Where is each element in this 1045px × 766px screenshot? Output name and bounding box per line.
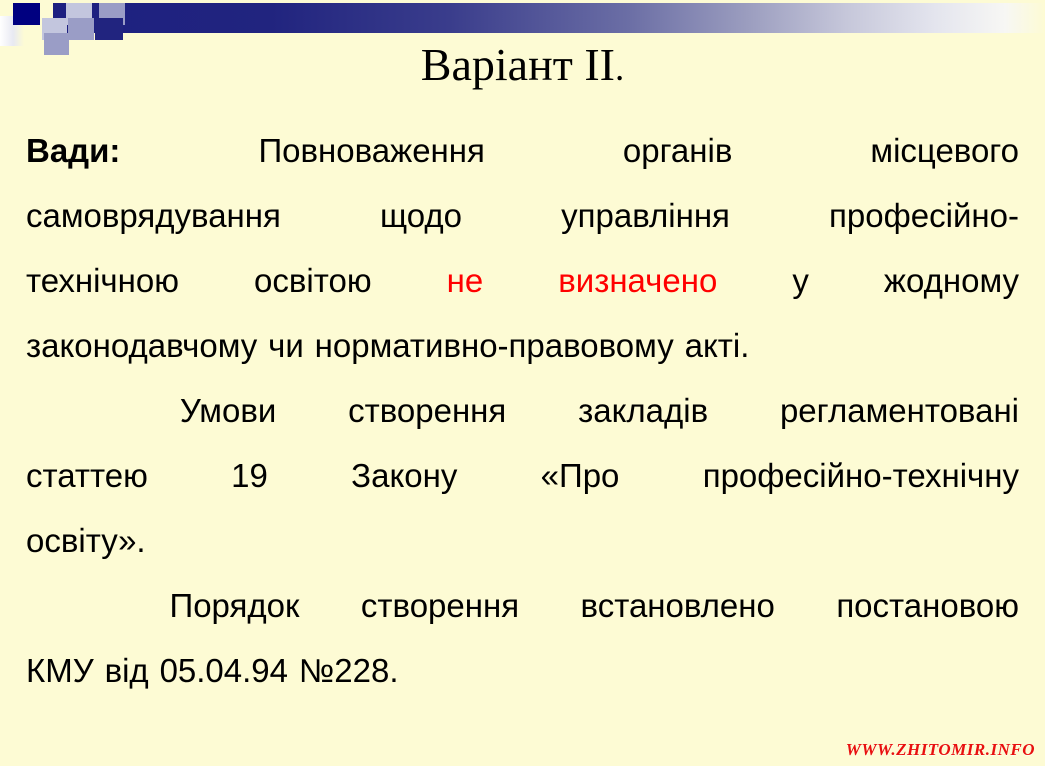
- word: у: [792, 248, 809, 313]
- word: жодному: [884, 248, 1019, 313]
- word: КМУ: [26, 638, 94, 703]
- text-line: Порядокствореннявстановленопостановою: [26, 573, 1019, 638]
- word: Вади:: [26, 118, 120, 183]
- word: законодавчому: [26, 313, 257, 378]
- word: створення: [348, 378, 506, 443]
- word: Повноваження: [258, 118, 484, 183]
- square-dark-navy: [13, 3, 40, 25]
- word: не: [447, 248, 484, 313]
- slide-title: Варіант II.: [0, 37, 1045, 97]
- text-line: статтею19Закону«Пропрофесійно-технічну: [26, 443, 1019, 508]
- text-line: Умовиствореннязакладіврегламентовані: [26, 378, 1019, 443]
- word: 19: [231, 443, 268, 508]
- text-line: самоврядуваннящодоуправлінняпрофесійно-: [26, 183, 1019, 248]
- word: самоврядування: [26, 183, 281, 248]
- site-watermark: WWW.ZHITOMIR.INFO: [846, 740, 1035, 760]
- text-line: законодавчомучинормативно-правовомуакті.: [26, 313, 1019, 378]
- text-line: КМУвід05.04.94№228.: [26, 638, 1019, 703]
- slide-title-period: .: [615, 48, 624, 89]
- text-line: освіту».: [26, 508, 1019, 573]
- word: щодо: [380, 183, 462, 248]
- word: регламентовані: [780, 378, 1019, 443]
- paragraph-umovy: Умовиствореннязакладіврегламентованістат…: [26, 378, 1019, 573]
- word: нормативно-правовому: [315, 313, 674, 378]
- word: освіту».: [26, 508, 146, 573]
- word: встановлено: [581, 573, 775, 638]
- paragraph-indent: [26, 573, 108, 638]
- word: Умови: [180, 378, 277, 443]
- word: чи: [268, 313, 304, 378]
- word: закладів: [578, 378, 708, 443]
- slide-body: Вади:Повноваженняорганівмісцевогосамовря…: [26, 118, 1019, 703]
- banner-gradient-bar: [53, 3, 1045, 33]
- word: 05.04.94: [160, 638, 288, 703]
- word: №228.: [299, 638, 399, 703]
- word: акті.: [685, 313, 750, 378]
- word: Порядок: [169, 573, 299, 638]
- text-line: Вади:Повноваженняорганівмісцевого: [26, 118, 1019, 183]
- word: «Про: [541, 443, 620, 508]
- word: статтею: [26, 443, 148, 508]
- paragraph-poryadok: ПорядокствореннявстановленопостановоюКМУ…: [26, 573, 1019, 703]
- word: професійно-: [829, 183, 1019, 248]
- word: технічною: [26, 248, 179, 313]
- word: органів: [623, 118, 732, 183]
- word: постановою: [836, 573, 1019, 638]
- word: визначено: [558, 248, 717, 313]
- word: місцевого: [870, 118, 1019, 183]
- paragraph-indent: [26, 378, 108, 443]
- slide-title-text: Варіант II: [421, 39, 615, 90]
- text-line: технічноюосвітоюневизначеноужодному: [26, 248, 1019, 313]
- paragraph-vady: Вади:Повноваженняорганівмісцевогосамовря…: [26, 118, 1019, 378]
- word: від: [105, 638, 149, 703]
- word: управління: [561, 183, 730, 248]
- word: створення: [361, 573, 519, 638]
- word: професійно-технічну: [703, 443, 1019, 508]
- word: освітою: [254, 248, 372, 313]
- word: Закону: [351, 443, 457, 508]
